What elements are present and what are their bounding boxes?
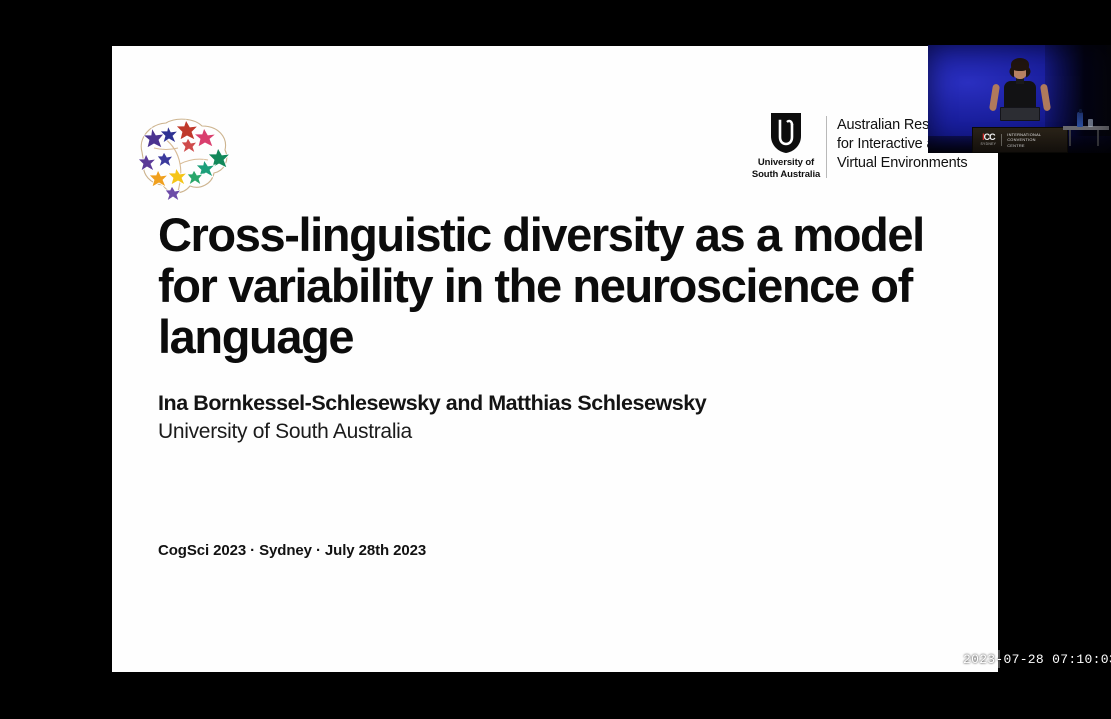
lectern-sign: ICC SYDNEY INTERNATIONAL CONVENTION CENT… bbox=[979, 132, 1061, 148]
logo-divider bbox=[826, 116, 827, 178]
colourful-brain-logo bbox=[130, 108, 238, 204]
icc-wordmark-suffix: CC bbox=[984, 132, 995, 142]
university-name: University of South Australia bbox=[752, 157, 820, 180]
research-centre-line3: Virtual Environments bbox=[837, 154, 968, 173]
icc-venue-name: INTERNATIONAL CONVENTION CENTRE bbox=[1007, 132, 1041, 149]
speaker-figure bbox=[983, 60, 1057, 134]
recording-timestamp: 2023-07-28 07:10:03 bbox=[963, 650, 1111, 668]
drinking-glass bbox=[1088, 119, 1093, 127]
slide-authors: Ina Bornkessel-Schlesewsky and Matthias … bbox=[158, 391, 706, 416]
lectern: ICC SYDNEY INTERNATIONAL CONVENTION CENT… bbox=[972, 127, 1068, 153]
icc-wordmark: ICC bbox=[982, 133, 995, 142]
speaker-arm-right bbox=[1039, 83, 1050, 111]
icc-logo: ICC SYDNEY bbox=[981, 133, 997, 146]
speaker-hair bbox=[1011, 58, 1029, 71]
icc-city: SYDNEY bbox=[981, 143, 997, 146]
water-bottle bbox=[1077, 112, 1083, 127]
speaker-arm-left bbox=[988, 83, 999, 111]
timestamp-text: 2023-07-28 07:10:03 bbox=[963, 652, 1111, 667]
side-table-leg-left bbox=[1069, 130, 1071, 146]
icc-sign-divider bbox=[1001, 134, 1002, 146]
slide-venue-line: CogSci 2023 · Sydney · July 28th 2023 bbox=[158, 542, 426, 559]
presentation-slide: University of South Australia Australian… bbox=[112, 46, 998, 672]
university-name-line1: University of bbox=[752, 157, 820, 169]
university-of-south-australia-logo: University of South Australia bbox=[752, 112, 820, 180]
speaker-video-overlay[interactable]: ICC SYDNEY INTERNATIONAL CONVENTION CENT… bbox=[928, 45, 1111, 153]
side-table bbox=[1063, 118, 1109, 144]
university-name-line2: South Australia bbox=[752, 169, 820, 181]
slide-title: Cross-linguistic diversity as a model fo… bbox=[158, 210, 948, 362]
lectern-laptop bbox=[1000, 107, 1040, 121]
icc-venue-line3: CENTRE bbox=[1007, 143, 1041, 149]
unisa-shield-icon bbox=[769, 112, 803, 154]
side-table-leg-right bbox=[1097, 130, 1099, 146]
slide-affiliation: University of South Australia bbox=[158, 420, 412, 444]
